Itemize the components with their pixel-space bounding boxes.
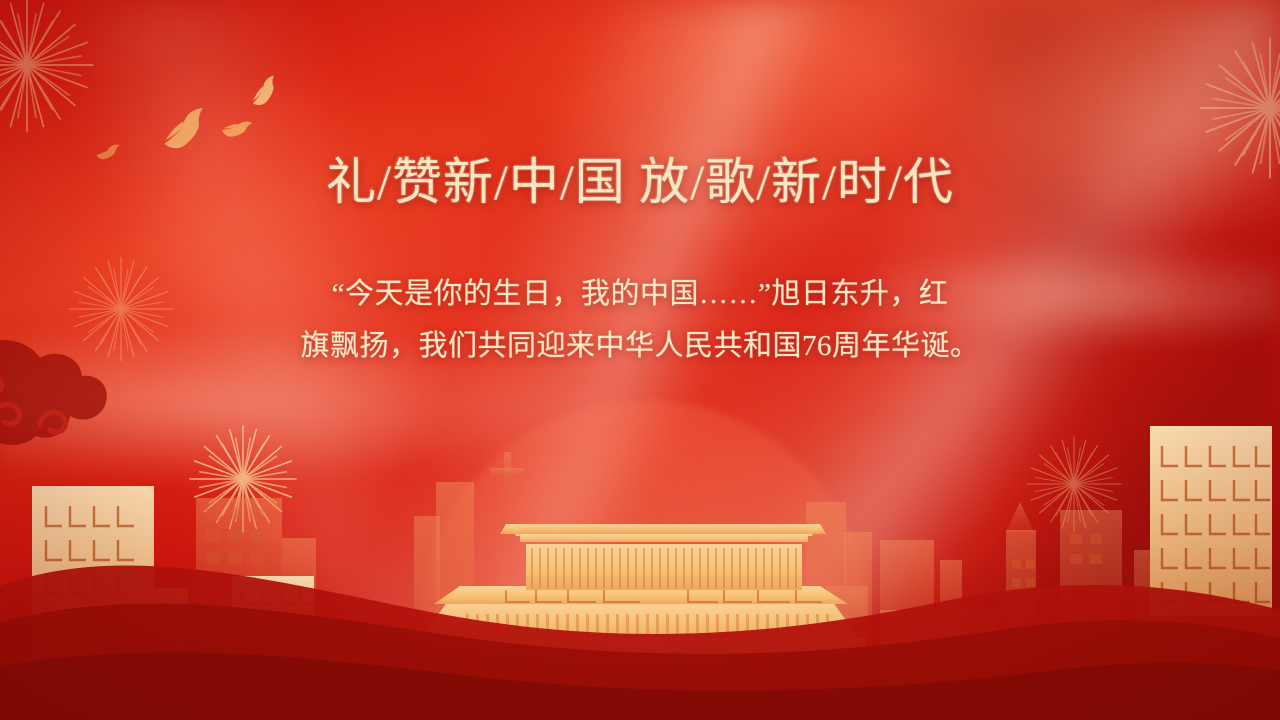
poster-canvas: 礼/赞新/中/国 放/歌/新/时/代 “今天是你的生日，我的中国……”旭日东升，…: [0, 0, 1280, 720]
vignette-overlay: [0, 0, 1280, 720]
